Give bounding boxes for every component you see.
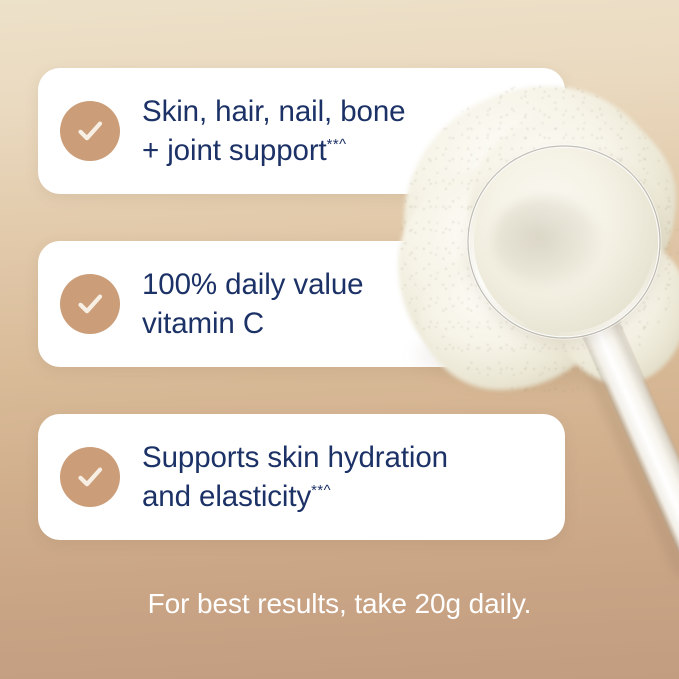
benefit-line-2: and elasticity [142,480,311,513]
benefit-card: 100% daily value vitamin C [38,241,565,367]
benefit-card-text: Supports skin hydration and elasticity**… [142,438,448,516]
scoop-handle [566,284,679,574]
benefit-card-text: Skin, hair, nail, bone + joint support**… [142,92,405,170]
powder-mound [556,236,679,384]
check-circle-icon [60,101,120,161]
benefit-line-2: + joint support [142,134,327,167]
benefit-superscript: **^ [327,137,347,153]
usage-tagline: For best results, take 20g daily. [0,588,679,620]
scoop-handle-shadow [556,293,679,576]
benefit-card-list: Skin, hair, nail, bone + joint support**… [38,68,565,540]
product-benefits-graphic: Skin, hair, nail, bone + joint support**… [0,0,679,679]
check-circle-icon [60,447,120,507]
benefit-superscript: **^ [311,483,331,499]
benefit-card: Supports skin hydration and elasticity**… [38,414,565,540]
benefit-card: Skin, hair, nail, bone + joint support**… [38,68,565,194]
benefit-line-1: 100% daily value [142,268,363,301]
benefit-line-1: Supports skin hydration [142,441,448,474]
check-circle-icon [60,274,120,334]
benefit-card-text: 100% daily value vitamin C [142,265,363,343]
benefit-line-1: Skin, hair, nail, bone [142,95,405,128]
benefit-line-2: vitamin C [142,307,264,340]
